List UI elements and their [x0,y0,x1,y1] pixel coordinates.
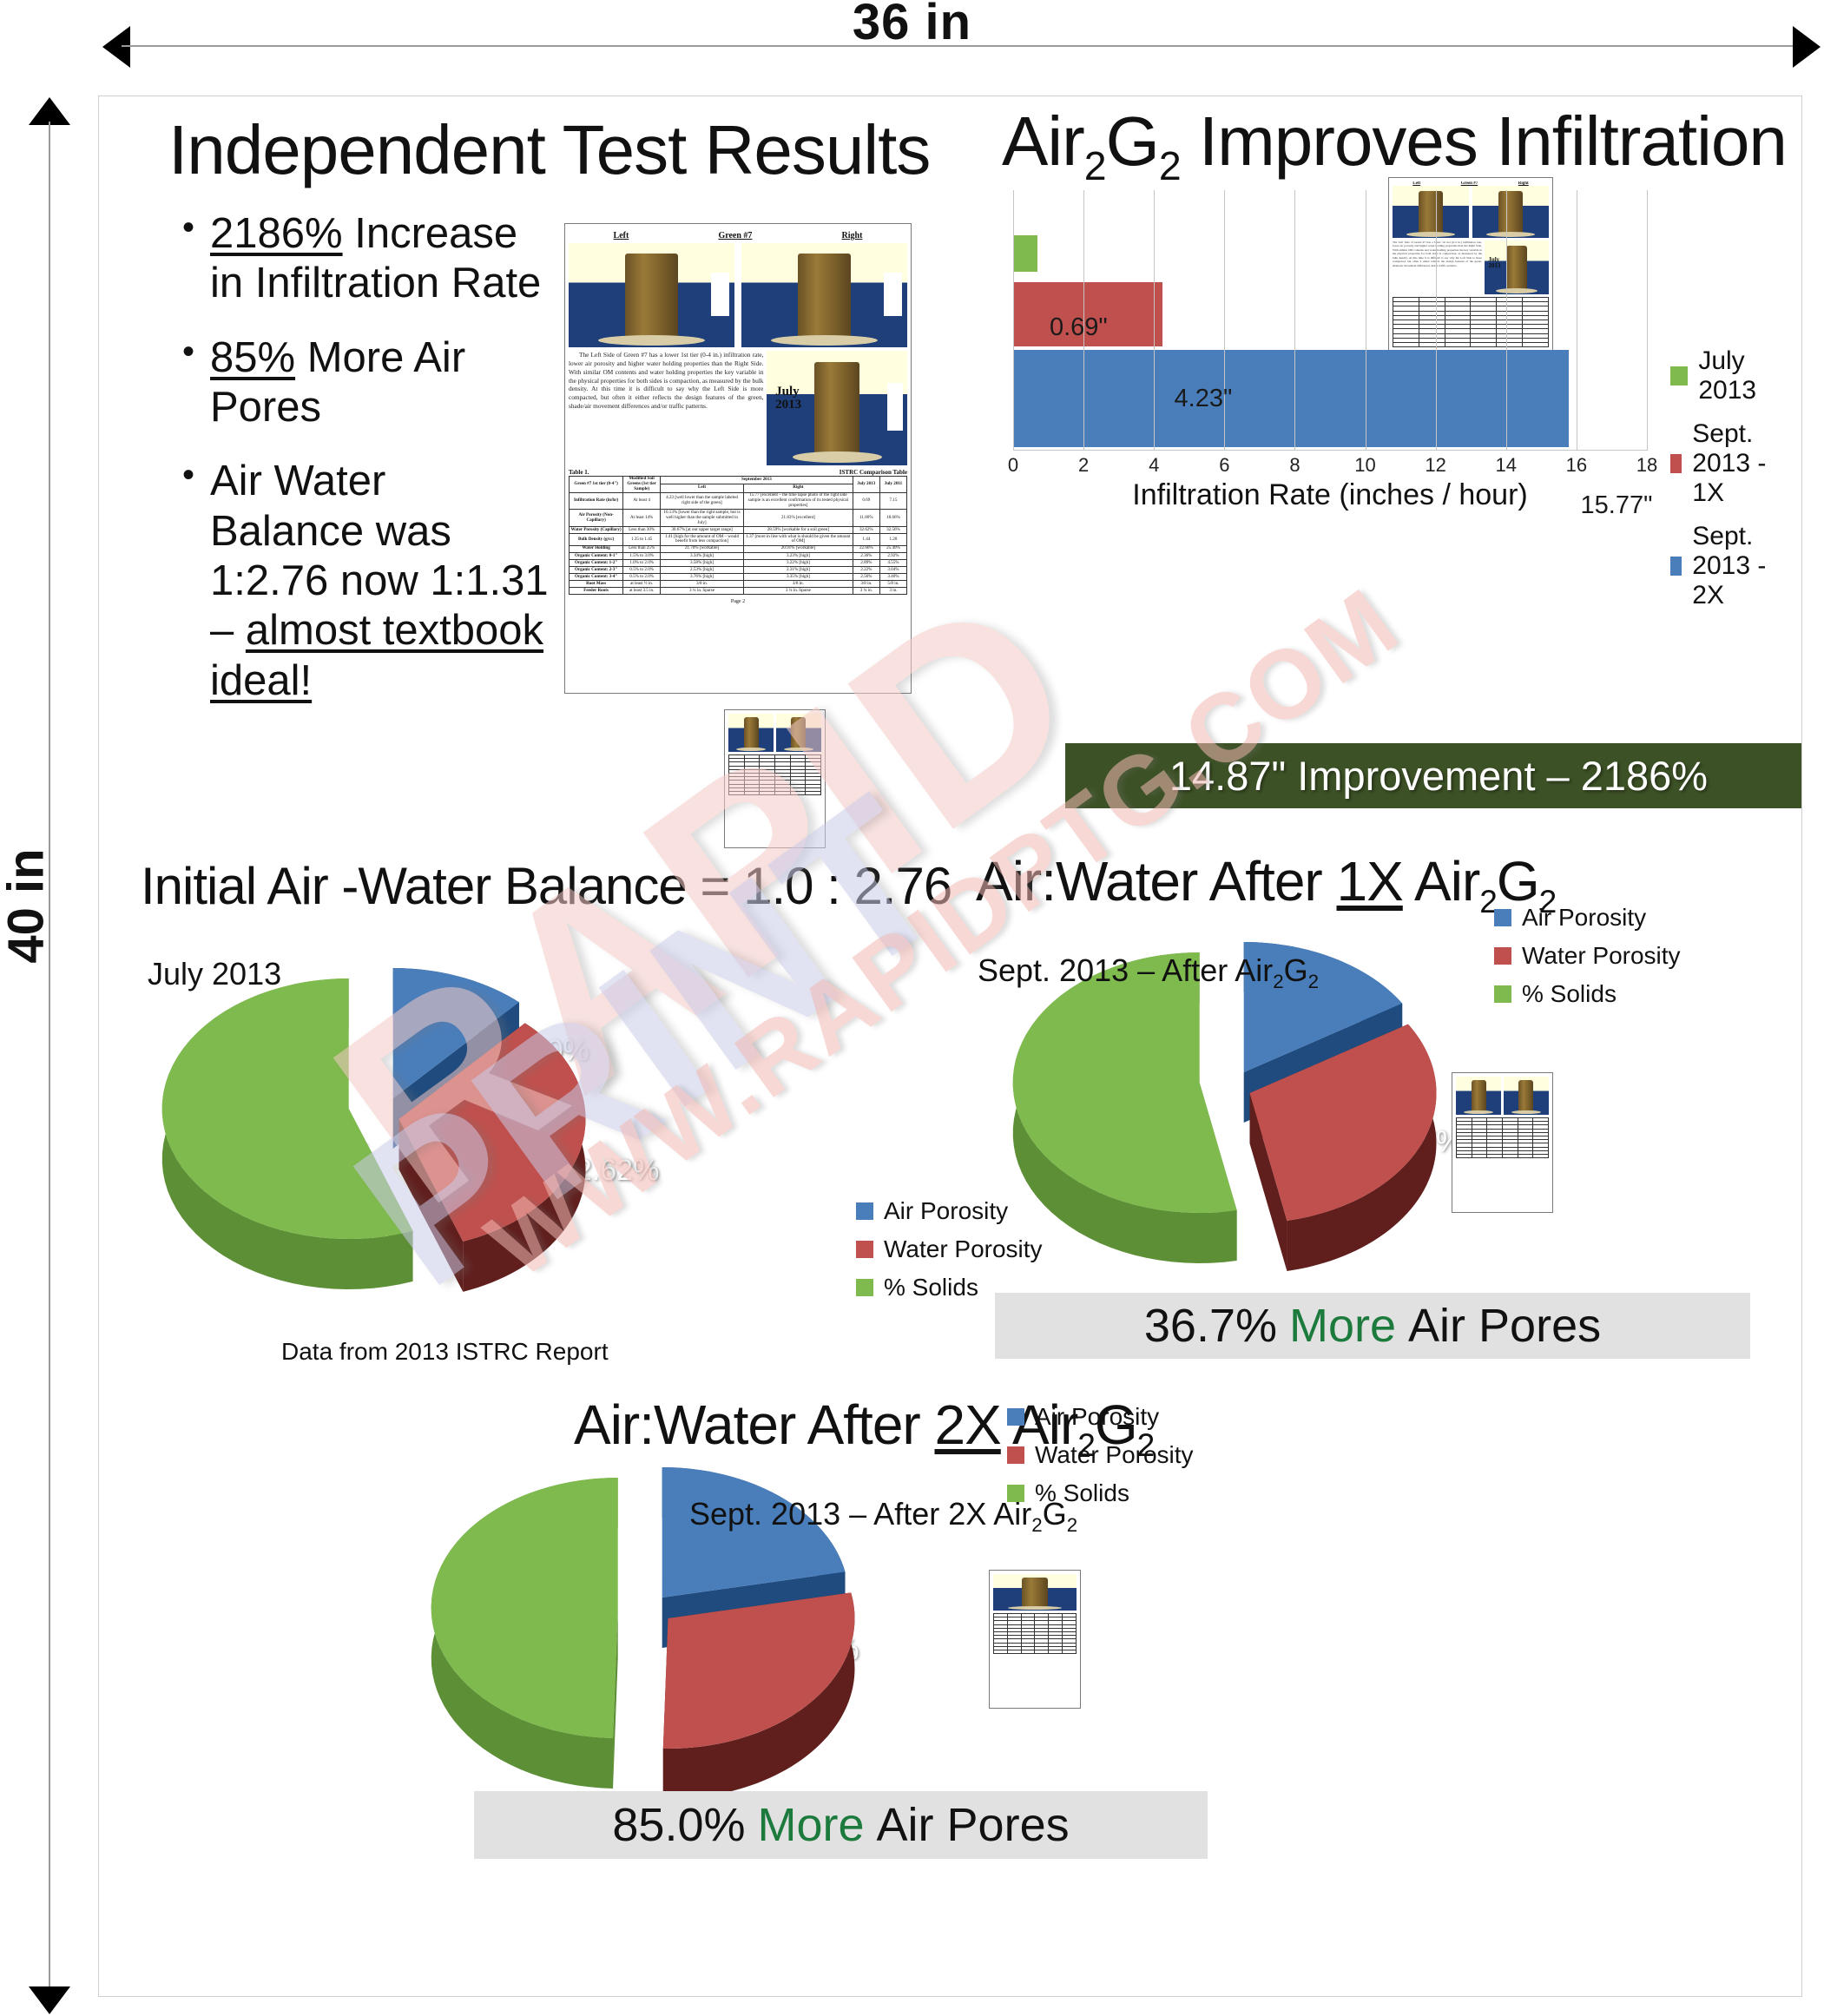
table-row: Organic Content: 0-1"1.5% to 3.0%3.34% [… [570,552,907,559]
legend-label: Water Porosity [1522,942,1681,970]
table-cell: Organic Content: 3-4" [570,574,623,581]
legend-item-air-porosity: Air Porosity [1494,904,1681,932]
table-cell: 28.59% [workable for a soil green] [743,526,853,533]
pie2-legend: Air Porosity Water Porosity % Solids [1494,904,1681,1018]
legend-swatch-green [1494,985,1511,1003]
gridline [1154,190,1155,451]
table-cell: 2.89% [853,559,879,566]
th-september: September 2013 [661,477,853,484]
gridline [1013,190,1014,451]
table-cell [1021,1650,1035,1653]
ruler-width-label: 36 in [0,0,1824,51]
legend-swatch-blue [1494,909,1511,926]
gridline [1647,190,1648,451]
report-col-left: Left [614,231,629,240]
banner-more-word: More [758,1798,865,1852]
legend-swatch-green [856,1279,873,1296]
bar-sept-2013-2x [1013,350,1569,447]
pie2-sub-2a2: 2 [1273,971,1283,992]
soil-core-photo-right [776,714,821,752]
xtick-0: 0 [1008,454,1018,477]
ruler-left-height: 40 in [0,0,104,2016]
table-cell: 21.70% [workable] [661,545,744,552]
table-cell: Air Porosity (Non-Capillary) [570,510,623,527]
table-cell: Water Holding [570,545,623,552]
table-cell: Root Mass [570,581,623,588]
xtick-12: 12 [1425,454,1445,477]
legend-item-solids: % Solids [1494,980,1681,1008]
legend-swatch-blue [856,1202,873,1220]
xtick-18: 18 [1636,454,1657,477]
table-cell [994,1650,1008,1653]
banner-pct: 36.7% [1144,1299,1277,1353]
pie3-heading-pre: Air:Water After [574,1393,935,1456]
soil-core-photo-july: July 2013 [767,351,907,465]
report-table-caption: Table 1. [569,469,589,476]
table-cell: 4.23 [well lower than the sample labeled… [661,492,744,510]
table-cell: 1.35 to 1.45 [623,534,661,546]
legend-swatch-red [856,1241,873,1258]
table-cell: 2.53% [high] [661,566,744,573]
title-sub-2b: 2 [1159,143,1181,188]
title-g: G [1106,102,1159,180]
istrc-report-thumbnail-pie1[interactable] [724,709,826,848]
table-row: Organic Content: 1-2"1.0% to 2.0%3.58% [… [570,559,907,566]
title-sub-2a: 2 [1084,143,1106,188]
table-cell: 1.28 [879,534,906,546]
table-cell: 1.41 [high for the amount of OM – would … [661,534,744,546]
list-item-air-pores: 85% More Air Pores [175,333,549,433]
findings-list: 2186% Increase in Infiltration Rate 85% … [175,209,549,730]
legend-label: Water Porosity [884,1235,1043,1263]
legend-item-water-porosity: Water Porosity [1007,1441,1194,1469]
title-improves-infiltration: Improves Infiltration [1181,102,1787,180]
gridline [1577,190,1577,451]
bar-label-july-2013: 0.69" [1050,313,1108,342]
table-cell: 2.56% [853,574,879,581]
pie-svg [116,973,689,1286]
th-left: Left [661,484,744,492]
table-cell [806,791,821,794]
list-item-air-water-balance: Air Water Balance was 1:2.76 now 1:1.31 … [175,457,549,706]
table-cell [760,791,775,794]
pie-chart-july-2013 [116,973,689,1286]
legend-label: July 2013 [1698,346,1801,405]
table-cell: 3 ¼ in. Sparse [743,588,853,595]
pie1-source-caption: Data from 2013 ISTRC Report [281,1338,609,1366]
istrc-comparison-table [993,1613,1077,1654]
table-row: Air Porosity (Non-Capillary)At least 14%… [570,510,907,527]
istrc-comparison-table: Green #7 1st tier (0-4") Modified Soil G… [569,476,907,595]
table-cell: Less than 25% [623,545,661,552]
legend-swatch-green [1007,1485,1024,1502]
bar-plot-area [1013,190,1647,451]
table-cell [1035,1650,1049,1653]
legend-swatch-blue [1007,1408,1024,1426]
x-axis-label: Infiltration Rate (inches / hour) [1013,478,1647,512]
arrow-down-icon [29,1986,70,2014]
x-axis-line [1013,450,1647,451]
table-cell: 18.66% [879,510,906,527]
table-cell: 21.83% [excellent] [743,510,853,527]
th-july-2013: July 2013 [853,477,879,493]
table-cell: Organic Content: 0-1" [570,552,623,559]
legend-label: % Solids [1035,1479,1129,1507]
th-modified-soil: Modified Soil Greens (1st tier Sample) [623,477,661,493]
xtick-10: 10 [1354,454,1375,477]
table-cell [729,791,745,794]
legend-label: Air Porosity [1035,1403,1159,1431]
pie3-heading-strong: 2X [935,1393,1001,1456]
legend-item-sept-2x: Sept. 2013 - 2X [1670,522,1801,610]
table-cell: 11.80% [853,510,879,527]
legend-item-sept-1x: Sept. 2013 - 1X [1670,419,1801,508]
table-cell: Bulk Density (g/cc) [570,534,623,546]
xtick-8: 8 [1289,454,1300,477]
table-cell: Organic Content: 2-3" [570,566,623,573]
pie2-sub-g: G [1284,952,1308,988]
report-col-right: Right [842,231,863,240]
table-row: Root Massat least ½ in.3/8 in.3/8 in.3/8… [570,581,907,588]
pie2-sub-pre: Sept. 2013 – After Air [978,952,1273,988]
report-col-center: Green #7 [718,231,752,240]
banner-more-air-pores-2x: 85.0% More Air Pores [474,1791,1208,1859]
improvement-banner: 14.87" Improvement – 2186% [1065,743,1802,808]
table-cell: 3 ¼ in. Sparse [661,588,744,595]
photo-stamp-year: 2013 [775,399,801,412]
table-cell: Water Porosity (Capillary) [570,526,623,533]
table-cell: 2.36% [853,552,879,559]
table-row [729,791,821,794]
poster-canvas: RAPID PRINT WWW.RAPIDPTG.COM Independent… [98,96,1802,1997]
table-cell [790,791,806,794]
table-row: Infiltration Rate (in/hr)At least 44.23 … [570,492,907,510]
gridline [1294,190,1295,451]
pie1-subtitle: July 2013 [148,956,281,992]
legend-swatch-green [1670,366,1688,385]
bullet1-strong: 2186% [210,210,343,257]
table-cell: Less than 30% [623,526,661,533]
bar-label-sept-1x: 4.23" [1175,385,1233,413]
istrc-comparison-table [728,754,821,795]
table-cell: 0.69 [853,492,879,510]
table-cell: 0.5% to 2.0% [623,566,661,573]
legend-item-water-porosity: Water Porosity [856,1235,1043,1263]
xtick-16: 16 [1566,454,1587,477]
table-cell: 3.04% [879,566,906,573]
pie2-heading: Air:Water After 1X Air2G2 [976,853,1556,918]
xtick-4: 4 [1149,454,1159,477]
table-cell: 16.13% [lower than the right sample, but… [661,510,744,527]
legend-swatch-blue [1670,557,1682,576]
table-cell: 1.37 [more in line with what is should b… [743,534,853,546]
bullet2-strong: 85% [210,334,295,381]
table-cell: 3.40% [879,574,906,581]
table-cell [774,791,790,794]
report-page-footer: Page 2 [569,599,907,604]
bar-chart-legend: July 2013 Sept. 2013 - 1X Sept. 2013 - 2… [1670,346,1801,624]
pie2-heading-pre: Air:Water After [976,850,1337,912]
istrc-report-thumbnail-large[interactable]: Left Green #7 Right The Left Side of Gre… [564,223,912,694]
table-row: Bulk Density (g/cc)1.35 to 1.451.41 [hig… [570,534,907,546]
bullet3-underline: almost textbook ideal! [210,607,543,703]
table-cell: 5/8 in. [879,581,906,588]
table-cell: 3.34% [high] [661,552,744,559]
list-item-infiltration: 2186% Increase in Infiltration Rate [175,209,549,309]
title-air: Air [1002,102,1084,180]
soil-core-photo-left [993,1574,1077,1611]
legend-label: Sept. 2013 - 2X [1692,522,1801,610]
pie3-sub-pre: Sept. 2013 – After 2X Air [689,1496,1031,1532]
table-cell: 7.15 [879,492,906,510]
banner-rest: Air Pores [877,1798,1070,1852]
istrc-report-thumbnail-pie3[interactable] [989,1570,1081,1709]
table-cell: 1.0% to 2.0% [623,559,661,566]
soil-core-photo-left [728,714,774,752]
legend-swatch-red [1494,947,1511,965]
table-cell: 20.91% [workable] [743,545,853,552]
table-cell: 0.5% to 2.0% [623,574,661,581]
report-body-text: The Left Side of Green #7 has a lower 1s… [569,351,763,465]
pie-chart-after-1x [967,947,1540,1260]
table-cell: 3.22% [high] [743,559,853,566]
table-cell: 25.40% [879,545,906,552]
xtick-2: 2 [1078,454,1089,477]
legend-item-air-porosity: Air Porosity [856,1197,1043,1225]
legend-swatch-red [1670,454,1682,473]
table-cell: 1.5% to 3.0% [623,552,661,559]
pie2-heading-post: Air [1403,850,1479,912]
legend-label: % Solids [1522,980,1617,1008]
table-cell [744,791,760,794]
legend-label: Water Porosity [1035,1441,1194,1469]
table-cell: 15.77 [excellent – the time lapse photo … [743,492,853,510]
table-cell: 3/8 in. [743,581,853,588]
ruler-line [49,122,50,1986]
pie2-sub-2b2: 2 [1308,971,1319,992]
page-title-independent-test-results: Independent Test Results [168,115,930,185]
ruler-top-width: 36 in [0,0,1824,96]
table-cell: Feeder Roots [570,588,623,595]
table-cell: Organic Content: 1-2" [570,559,623,566]
table-row: Water HoldingLess than 25%21.70% [workab… [570,545,907,552]
x-axis-ticks: 0 2 4 6 8 10 12 14 16 18 [1013,454,1647,480]
xtick-6: 6 [1219,454,1229,477]
table-cell: 22.66% [853,545,879,552]
table-cell: 4.55% [879,559,906,566]
table-cell [1049,1650,1063,1653]
legend-item-water-porosity: Water Porosity [1494,942,1681,970]
th-green7: Green #7 1st tier (0-4") [570,477,623,493]
table-cell: at least 3.5 in. [623,588,661,595]
gridline [1506,190,1507,451]
legend-label: Sept. 2013 - 1X [1692,419,1801,508]
th-right: Right [743,484,853,492]
legend-label: % Solids [884,1274,978,1301]
banner-pct: 85.0% [612,1798,745,1852]
table-cell [1007,1650,1021,1653]
soil-core-photo-left [569,243,734,347]
table-cell: 1.44 [853,534,879,546]
pie-svg [967,947,1540,1260]
report-table-title: ISTRC Comparison Table [840,469,907,476]
table-row: Organic Content: 2-3"0.5% to 2.0%2.53% [… [570,566,907,573]
gridline [1366,190,1366,451]
table-cell: 3.35% [high] [743,574,853,581]
table-cell: 2.92% [879,552,906,559]
table-cell: 3 in. [879,588,906,595]
table-cell: 3.76% [high] [661,574,744,581]
pie2-subtitle: Sept. 2013 – After Air2G2 [978,952,1319,993]
banner-more-air-pores-1x: 36.7% More Air Pores [995,1293,1750,1359]
infiltration-bar-chart [1013,190,1647,451]
table-cell: 3 ¼ in. [853,588,879,595]
table-cell: At least 14% [623,510,661,527]
table-row: Organic Content: 3-4"0.5% to 2.0%3.76% [… [570,574,907,581]
table-cell: 32.56% [879,526,906,533]
gridline [1436,190,1437,451]
legend-label: Air Porosity [884,1197,1008,1225]
table-cell: 3.58% [high] [661,559,744,566]
legend-item-solids: % Solids [1007,1479,1194,1507]
table-cell: Infiltration Rate (in/hr) [570,492,623,510]
table-row [994,1650,1077,1653]
pie3-legend: Air Porosity Water Porosity % Solids [1007,1403,1194,1518]
pie2-heading-strong: 1X [1337,850,1403,912]
legend-swatch-red [1007,1446,1024,1464]
table-cell: 30.67% [at our upper target range] [661,526,744,533]
soil-core-photo-right [741,243,907,347]
bar-july-2013 [1013,235,1037,272]
table-row: Water Porosity (Capillary)Less than 30%3… [570,526,907,533]
table-row: Feeder Rootsat least 3.5 in.3 ¼ in. Spar… [570,588,907,595]
table-cell: 32.62% [853,526,879,533]
legend-item-air-porosity: Air Porosity [1007,1403,1194,1431]
table-cell: At least 4 [623,492,661,510]
table-cell: 3.23% [high] [743,552,853,559]
bar-chart-title: Air2G2 Improves Infiltration [1002,107,1787,186]
banner-more-word: More [1289,1299,1396,1353]
banner-rest: Air Pores [1408,1299,1601,1353]
table-cell: at least ½ in. [623,581,661,588]
xtick-14: 14 [1496,454,1517,477]
table-cell: 2.31% [high] [743,566,853,573]
pie1-heading: Initial Air -Water Balance = 1.0 : 2.76 [141,860,952,912]
legend-label: Air Porosity [1522,904,1646,932]
legend-item-july-2013: July 2013 [1670,346,1801,405]
photo-stamp-month: July [775,385,801,399]
ruler-height-label: 40 in [0,768,56,1045]
table-cell: 3/8 in. [661,581,744,588]
table-cell: 3/8 in. [853,581,879,588]
table-cell: 2.22% [853,566,879,573]
th-july-2011: July 2011 [879,477,906,493]
table-cell [1063,1650,1077,1653]
